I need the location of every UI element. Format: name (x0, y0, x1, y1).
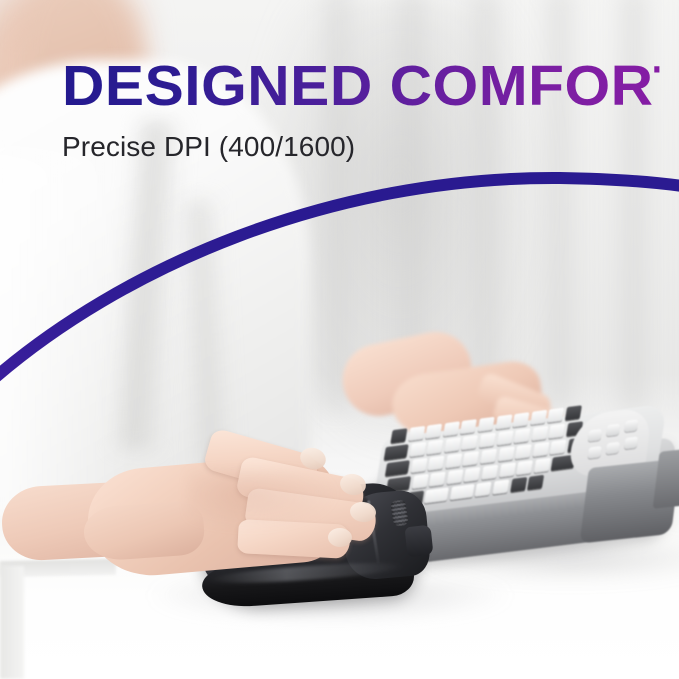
subtitle: Precise DPI (400/1600) (62, 131, 642, 163)
desk-edge-side (0, 566, 24, 679)
headline-block: DESIGNED COMFORT Precise DPI (400/1600) (62, 58, 642, 163)
hand-shading (188, 470, 338, 530)
page-title: DESIGNED COMFORT (62, 58, 659, 115)
product-banner: DESIGNED COMFORT Precise DPI (400/1600) (0, 0, 679, 679)
hand-on-mouse (88, 430, 428, 600)
